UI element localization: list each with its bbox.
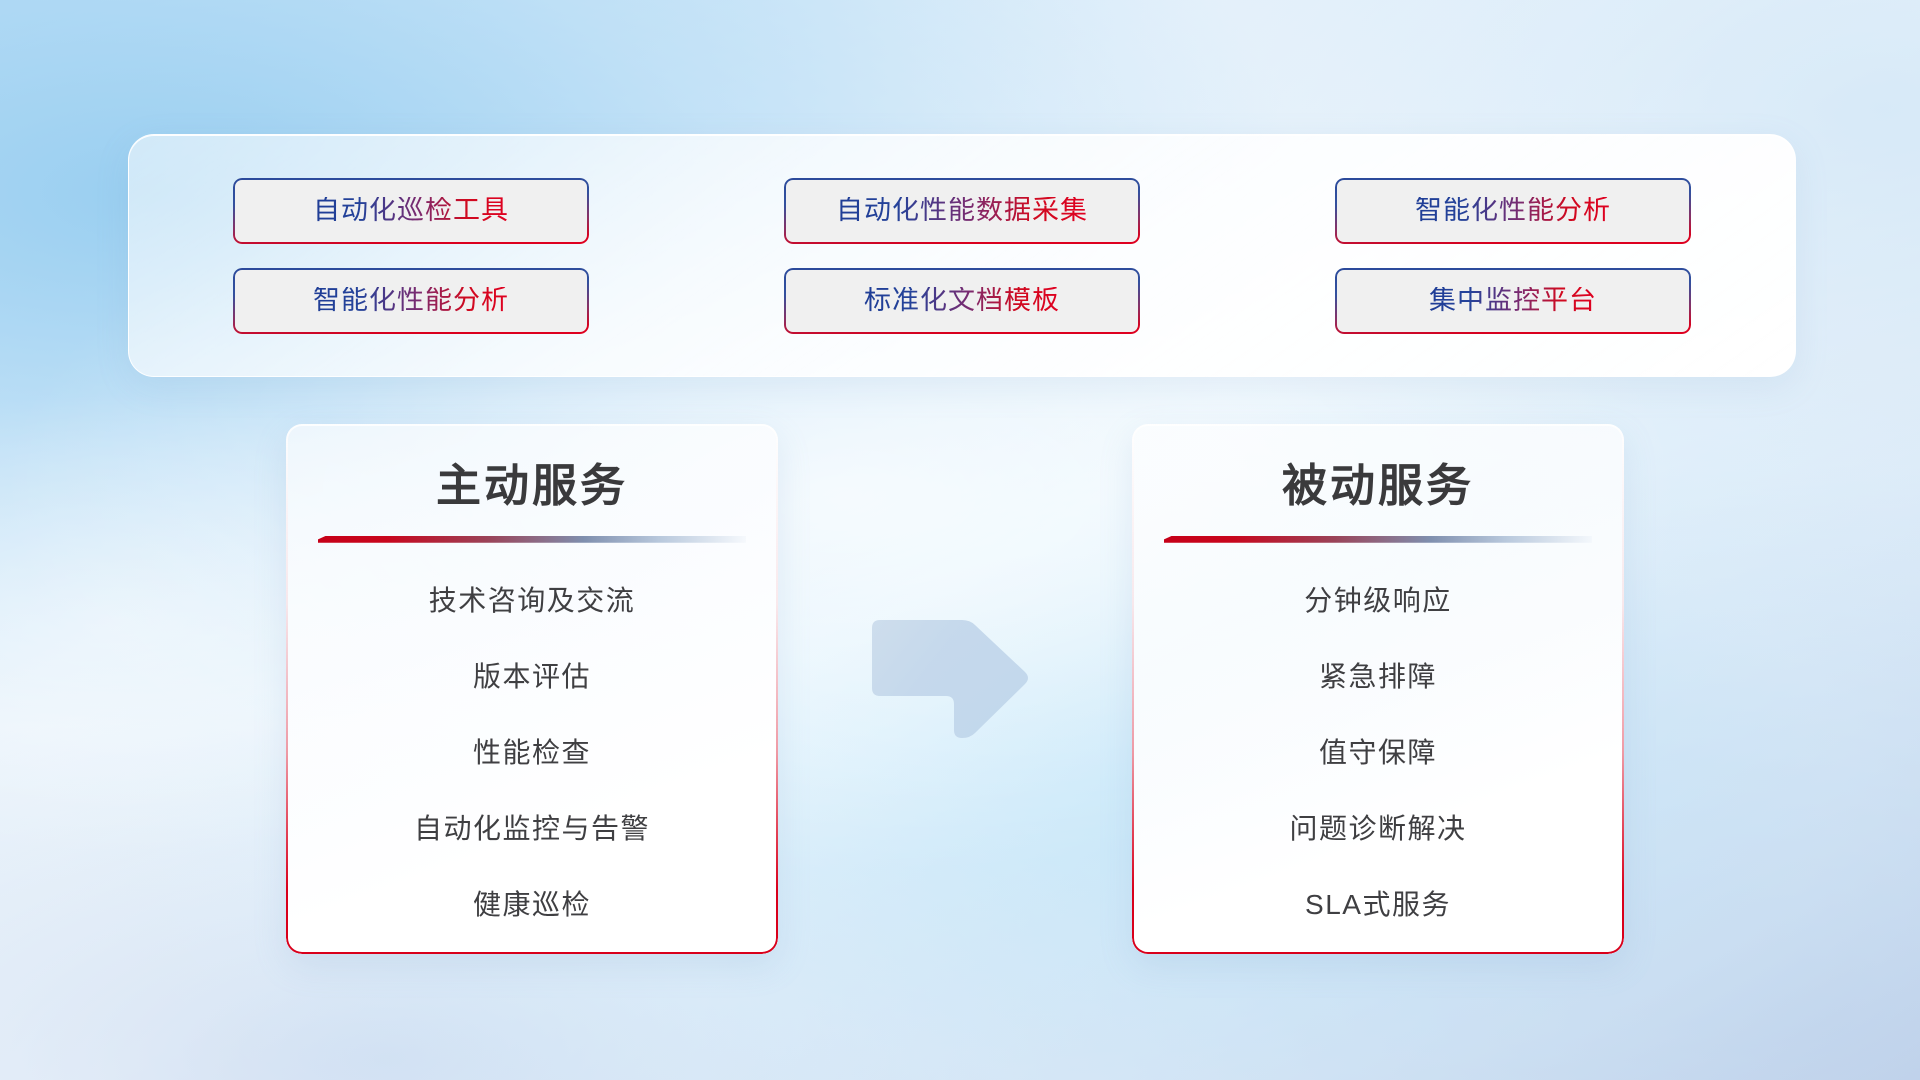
card-reactive-service: 被动服务 分钟级响应 紧急排障 值守保障 问题诊断解决 SLA式服务 <box>1132 424 1624 954</box>
chip-label: 自动化巡检工具 <box>313 197 509 224</box>
chip-row-1: 自动化巡检工具 自动化性能数据采集 智能化性能分析 <box>233 178 1691 244</box>
list-item: 性能检查 <box>286 739 778 767</box>
card-title: 主动服务 <box>286 460 778 512</box>
list-item: 自动化监控与告警 <box>286 815 778 843</box>
list-item: 分钟级响应 <box>1132 587 1624 615</box>
list-item: 版本评估 <box>286 663 778 691</box>
list-item: SLA式服务 <box>1132 891 1624 919</box>
card-divider <box>1164 536 1592 543</box>
card-item-list: 分钟级响应 紧急排障 值守保障 问题诊断解决 SLA式服务 <box>1132 587 1624 919</box>
chip-intelligent-performance-analysis[interactable]: 智能化性能分析 <box>233 268 589 334</box>
chip-label: 集中监控平台 <box>1429 287 1597 314</box>
capability-chips-panel: 自动化巡检工具 自动化性能数据采集 智能化性能分析 智能化性能分析 标准化文档模… <box>128 134 1796 377</box>
chip-label: 标准化文档模板 <box>864 287 1060 314</box>
chip-row-2: 智能化性能分析 标准化文档模板 集中监控平台 <box>233 268 1691 334</box>
card-divider <box>318 536 746 543</box>
list-item: 值守保障 <box>1132 739 1624 767</box>
diagram-canvas: 自动化巡检工具 自动化性能数据采集 智能化性能分析 智能化性能分析 标准化文档模… <box>0 0 1920 1080</box>
card-item-list: 技术咨询及交流 版本评估 性能检查 自动化监控与告警 健康巡检 <box>286 587 778 919</box>
list-item: 问题诊断解决 <box>1132 815 1624 843</box>
chip-centralized-monitoring-platform[interactable]: 集中监控平台 <box>1335 268 1691 334</box>
chip-label: 智能化性能分析 <box>313 287 509 314</box>
chip-label: 智能化性能分析 <box>1415 197 1611 224</box>
chip-automated-performance-data-collection[interactable]: 自动化性能数据采集 <box>784 178 1140 244</box>
chip-standardized-document-template[interactable]: 标准化文档模板 <box>784 268 1140 334</box>
card-title: 被动服务 <box>1132 460 1624 512</box>
arrow-right-icon <box>866 618 1032 742</box>
chip-label: 自动化性能数据采集 <box>836 197 1088 224</box>
list-item: 健康巡检 <box>286 891 778 919</box>
chip-intelligent-performance-analysis-top[interactable]: 智能化性能分析 <box>1335 178 1691 244</box>
list-item: 紧急排障 <box>1132 663 1624 691</box>
list-item: 技术咨询及交流 <box>286 587 778 615</box>
card-proactive-service: 主动服务 技术咨询及交流 版本评估 性能检查 自动化监控与告警 健康巡检 <box>286 424 778 954</box>
chip-automated-inspection-tool[interactable]: 自动化巡检工具 <box>233 178 589 244</box>
